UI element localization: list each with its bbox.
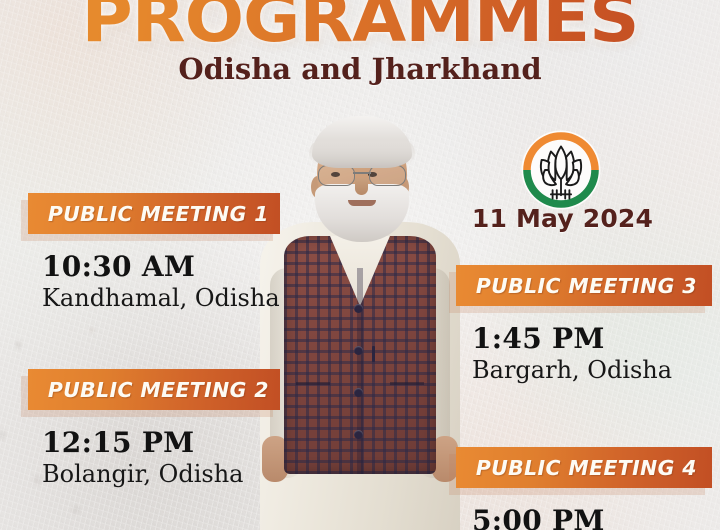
meeting-time-3: 1:45 PM	[472, 322, 712, 355]
meeting-banner-1: PUBLIC MEETING 1	[28, 193, 280, 234]
glasses-left-lens	[318, 165, 355, 186]
meeting-place-2: Bolangir, Odisha	[42, 460, 280, 488]
page-title: PROGRAMMES	[0, 0, 720, 50]
lotus-icon	[519, 128, 603, 212]
pen	[372, 346, 375, 362]
jacket-button	[354, 388, 363, 397]
event-date: 11 May 2024	[460, 204, 665, 233]
meeting-label-2: PUBLIC MEETING 2	[48, 378, 269, 402]
meeting-block-4: PUBLIC MEETING 4 5:00 PM	[456, 447, 712, 530]
glasses-icon	[318, 165, 406, 185]
meeting-block-1: PUBLIC MEETING 1 10:30 AM Kandhamal, Odi…	[28, 193, 280, 312]
poster-header: PROGRAMMES Odisha and Jharkhand	[0, 0, 720, 85]
meeting-label-1: PUBLIC MEETING 1	[48, 202, 269, 226]
page-subtitle: Odisha and Jharkhand	[0, 53, 720, 85]
mouth	[348, 200, 376, 206]
bjp-lotus-logo	[519, 128, 603, 212]
jacket-button	[354, 304, 363, 313]
glasses-right-lens	[369, 165, 406, 186]
meeting-banner-4: PUBLIC MEETING 4	[456, 447, 712, 488]
jacket-button	[354, 346, 363, 355]
meeting-time-1: 10:30 AM	[42, 250, 280, 283]
meeting-block-3: PUBLIC MEETING 3 1:45 PM Bargarh, Odisha	[456, 265, 712, 384]
jacket-pocket-left	[296, 382, 330, 385]
meeting-block-2: PUBLIC MEETING 2 12:15 PM Bolangir, Odis…	[28, 369, 280, 488]
jacket-placket	[357, 268, 363, 474]
meeting-place-3: Bargarh, Odisha	[472, 356, 712, 384]
meeting-time-2: 12:15 PM	[42, 426, 280, 459]
programmes-poster: PROGRAMMES Odisha and Jharkhand	[0, 0, 720, 530]
jacket-button	[354, 430, 363, 439]
hair	[312, 116, 412, 168]
meeting-label-3: PUBLIC MEETING 3	[476, 274, 697, 298]
meeting-time-4: 5:00 PM	[472, 504, 712, 530]
meeting-banner-2: PUBLIC MEETING 2	[28, 369, 280, 410]
meeting-place-1: Kandhamal, Odisha	[42, 284, 280, 312]
jacket-pocket-right	[390, 382, 424, 385]
meeting-banner-3: PUBLIC MEETING 3	[456, 265, 712, 306]
meeting-label-4: PUBLIC MEETING 4	[476, 456, 697, 480]
